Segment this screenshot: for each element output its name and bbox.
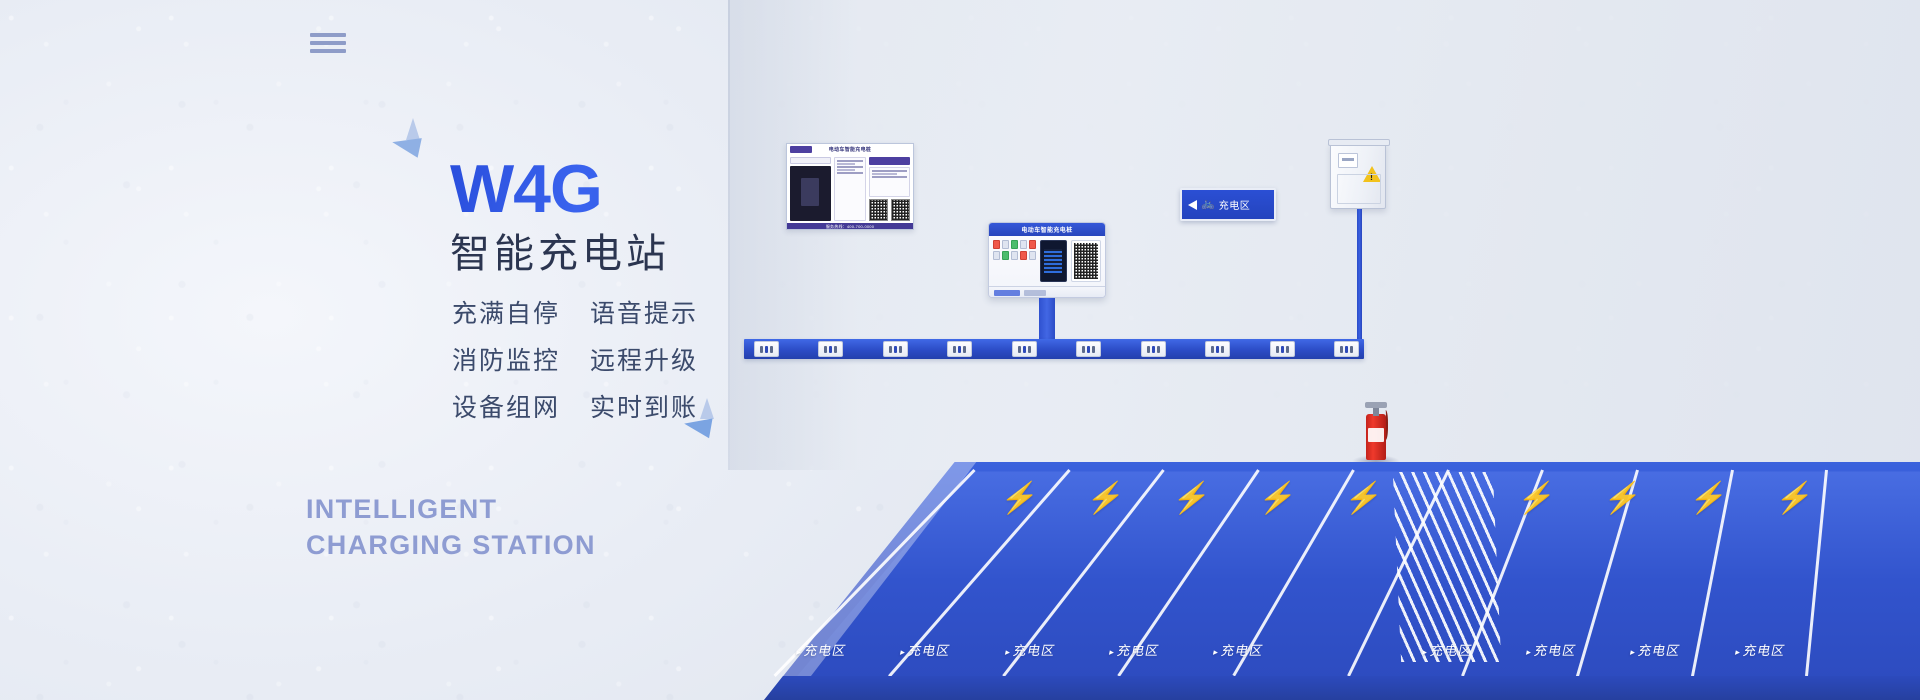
parking-bay-label: ▸充电区 <box>899 640 953 659</box>
poster-column-right <box>869 157 910 221</box>
decorative-arrow-top <box>392 118 432 158</box>
parking-bay-label: ▸充电区 <box>1734 640 1788 659</box>
poster-text-block <box>869 167 910 197</box>
wall-socket[interactable] <box>883 341 908 357</box>
poster-column-left <box>790 157 831 221</box>
hamburger-bar <box>310 33 346 37</box>
parking-bay-label-text: 充电区 <box>1116 643 1161 658</box>
pile-header: 电动车智能充电桩 <box>989 223 1105 236</box>
poster-text-block <box>834 157 867 221</box>
feature-item: 远程升级 <box>590 341 698 377</box>
wall-socket[interactable] <box>1012 341 1037 357</box>
parking-bay-label: ▸充电区 <box>1212 640 1266 659</box>
wall-socket[interactable] <box>1270 341 1295 357</box>
hero-banner: W4G 智能充电站 充满自停 语音提示 消防监控 远程升级 设备组网 实时到账 … <box>0 0 1920 700</box>
wall-poster: 电动车智能充电桩 服务热线：400-700-0000 <box>786 143 914 230</box>
parking-bay-label-text: 充电区 <box>1637 643 1682 658</box>
feature-item: 消防监控 <box>452 341 560 377</box>
pile-title: 电动车智能充电桩 <box>1021 225 1072 234</box>
parking-bay-label-text: 充电区 <box>907 643 952 658</box>
bay-label-marker: ▸ <box>1421 647 1429 657</box>
right-wall <box>730 0 1920 470</box>
cabinet-meter <box>1338 153 1358 168</box>
charging-plug-icon: ⚡ <box>1343 483 1385 514</box>
left-arrow-icon <box>1188 200 1197 210</box>
pile-port[interactable] <box>1020 240 1027 249</box>
wall-socket[interactable] <box>1334 341 1359 357</box>
parking-floor: ⚡▸充电区⚡▸充电区⚡▸充电区⚡▸充电区⚡▸充电区⚡▸充电区⚡▸充电区⚡▸充电区… <box>0 462 1920 700</box>
cabinet-door <box>1337 174 1381 204</box>
page-title: W4G <box>450 155 710 223</box>
parking-bay-label-text: 充电区 <box>1220 643 1265 658</box>
bay-label-marker: ▸ <box>1004 647 1012 657</box>
poster-footer: 服务热线：400-700-0000 <box>787 223 913 230</box>
pile-port[interactable] <box>993 251 1000 260</box>
bay-label-marker: ▸ <box>1525 647 1533 657</box>
feature-item: 语音提示 <box>590 294 698 330</box>
parking-bay-label-text: 充电区 <box>1011 643 1056 658</box>
poster-section-bar <box>869 157 910 165</box>
wall-socket-rail <box>744 339 1364 359</box>
charging-plug-icon: ⚡ <box>1688 483 1730 514</box>
charging-plug-icon: ⚡ <box>1171 483 1213 514</box>
pile-port[interactable] <box>1011 240 1018 249</box>
poster-logo <box>790 146 812 153</box>
cabinet-top-cap <box>1328 139 1390 146</box>
qr-code-icon <box>869 199 888 221</box>
wall-socket[interactable] <box>818 341 843 357</box>
pile-mounting-pole <box>1039 298 1055 342</box>
charging-plug-icon: ⚡ <box>1774 483 1816 514</box>
electric-bike-icon: 🚲 <box>1201 199 1215 210</box>
hero-headline: W4G 智能充电站 <box>450 155 710 277</box>
direction-sign: 🚲 充电区 <box>1180 188 1276 221</box>
parking-bay-label: ▸充电区 <box>1525 640 1579 659</box>
poster-device-image <box>790 166 831 221</box>
hamburger-menu-icon[interactable] <box>310 33 346 53</box>
parking-bays: ⚡▸充电区⚡▸充电区⚡▸充电区⚡▸充电区⚡▸充电区⚡▸充电区⚡▸充电区⚡▸充电区… <box>568 462 1920 700</box>
parking-bay-label: ▸充电区 <box>1108 640 1162 659</box>
charging-pile-device[interactable]: 电动车智能充电桩 <box>988 222 1106 298</box>
wall-socket[interactable] <box>947 341 972 357</box>
parking-bay-label: ▸充电区 <box>1004 640 1058 659</box>
parking-bay-label-text: 充电区 <box>1741 643 1786 658</box>
pile-port[interactable] <box>1029 251 1036 260</box>
hamburger-bar <box>310 49 346 53</box>
extinguisher-hose <box>1382 410 1388 440</box>
pile-port[interactable] <box>1011 251 1018 260</box>
charging-plug-icon: ⚡ <box>1257 483 1299 514</box>
bay-label-marker: ▸ <box>796 647 804 657</box>
pile-port[interactable] <box>993 240 1000 249</box>
pile-port[interactable] <box>1002 240 1009 249</box>
wall-seam <box>728 0 730 470</box>
pile-body <box>989 236 1105 286</box>
pile-port[interactable] <box>1029 240 1036 249</box>
pile-port[interactable] <box>1002 251 1009 260</box>
direction-sign-label: 充电区 <box>1219 197 1251 212</box>
poster-qr-row <box>869 199 910 221</box>
brand-logo <box>994 290 1020 296</box>
pile-display-screen <box>1040 240 1068 282</box>
wall-socket[interactable] <box>1205 341 1230 357</box>
charging-plug-icon: ⚡ <box>1085 483 1127 514</box>
feature-item: 实时到账 <box>590 388 698 424</box>
pile-port[interactable] <box>1020 251 1027 260</box>
parking-bay-label-text: 充电区 <box>1428 643 1473 658</box>
hatched-lane <box>1393 472 1501 662</box>
feature-item: 设备组网 <box>452 388 560 424</box>
poster-title: 电动车智能充电桩 <box>829 146 871 153</box>
poster-header: 电动车智能充电桩 <box>787 144 913 155</box>
electrical-cabinet: ! <box>1330 143 1386 209</box>
parking-bay-label: ▸充电区 <box>795 640 849 659</box>
charging-plug-icon: ⚡ <box>999 483 1041 514</box>
charging-plug-icon: ⚡ <box>1515 483 1557 514</box>
fire-extinguisher <box>1363 400 1389 462</box>
parking-bay-label-text: 充电区 <box>1533 643 1578 658</box>
parking-bay-label: ▸充电区 <box>1421 640 1475 659</box>
wall-corner-shade <box>728 0 858 470</box>
wall-socket[interactable] <box>1076 341 1101 357</box>
qr-code-icon <box>891 199 910 221</box>
pile-qr-code-icon[interactable] <box>1071 240 1101 282</box>
pile-port-grid[interactable] <box>993 240 1036 282</box>
pile-footer <box>989 286 1105 298</box>
poster-column-mid <box>834 157 867 221</box>
parking-bay-label-text: 充电区 <box>803 643 848 658</box>
parking-bay-label: ▸充电区 <box>1629 640 1683 659</box>
poster-body <box>787 155 913 223</box>
wall-socket[interactable] <box>1141 341 1166 357</box>
charging-plug-icon: ⚡ <box>1601 483 1643 514</box>
feature-item: 充满自停 <box>452 294 560 330</box>
wall-socket[interactable] <box>754 341 779 357</box>
hamburger-bar <box>310 41 346 45</box>
feature-list: 充满自停 语音提示 消防监控 远程升级 设备组网 实时到账 <box>452 294 698 424</box>
page-subtitle: 智能充电站 <box>450 231 710 277</box>
bay-label-marker: ▸ <box>1734 647 1742 657</box>
extinguisher-neck <box>1373 407 1379 416</box>
poster-footer-text: 服务热线：400-700-0000 <box>826 224 874 230</box>
brand-logo-secondary <box>1024 290 1046 296</box>
bay-label-marker: ▸ <box>1108 647 1116 657</box>
poster-chip <box>790 157 831 164</box>
extinguisher-handle <box>1365 402 1387 408</box>
cabinet-conduit-vertical <box>1357 209 1362 349</box>
